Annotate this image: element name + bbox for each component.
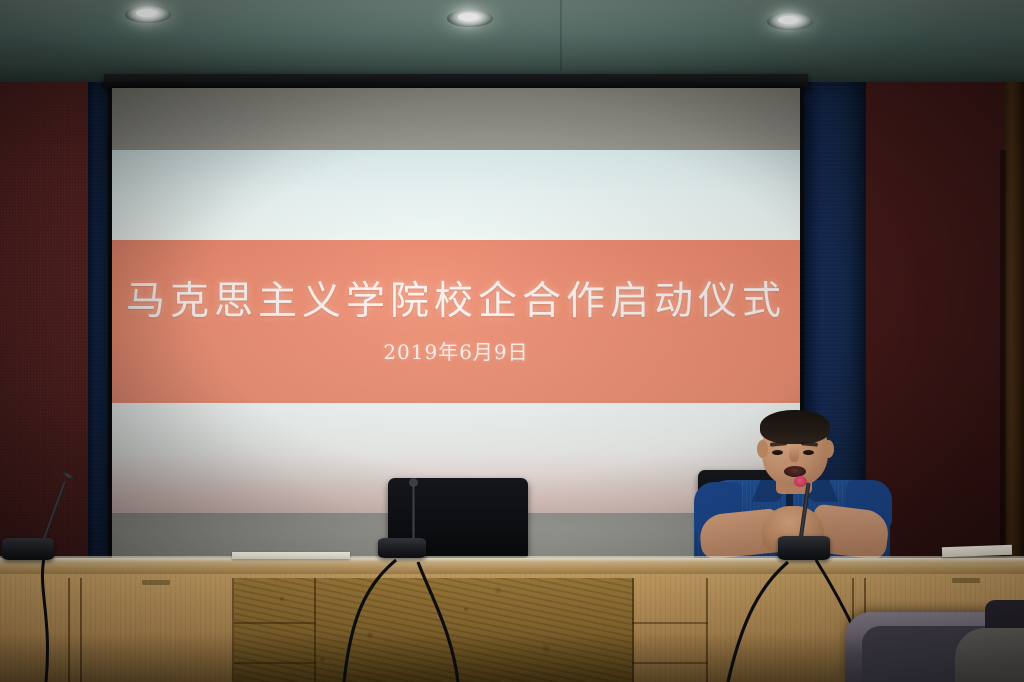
downlight-icon-center [447,10,493,27]
wall-trim-shadow-right [1000,150,1006,580]
speaker-nose [789,446,799,462]
foreground-audience-head [955,628,1024,682]
speaker-hair [760,410,830,444]
speaker-ear-right [823,440,834,458]
downlight-icon-right [767,13,813,30]
mic-cable-speaker-a [728,562,788,682]
speaker-eye-right [803,450,814,455]
mic-cable-far-left [42,558,47,682]
mic-gooseneck-center [412,482,415,542]
speaker-eye-left [772,450,783,455]
wall-wood-trim-right [1004,82,1024,580]
mic-cable-center [344,560,396,682]
mic-windscreen-speaker [794,476,807,487]
ceiling-panel-seam [560,0,562,70]
downlight-icon-left [125,6,171,23]
conference-room-photo: 马克思主义学院校企合作启动仪式 2019年6月9日 [0,0,1024,682]
mic-cable-center-b [418,562,458,682]
mic-capsule-center [409,478,418,487]
speaker-ear-left [757,440,768,458]
